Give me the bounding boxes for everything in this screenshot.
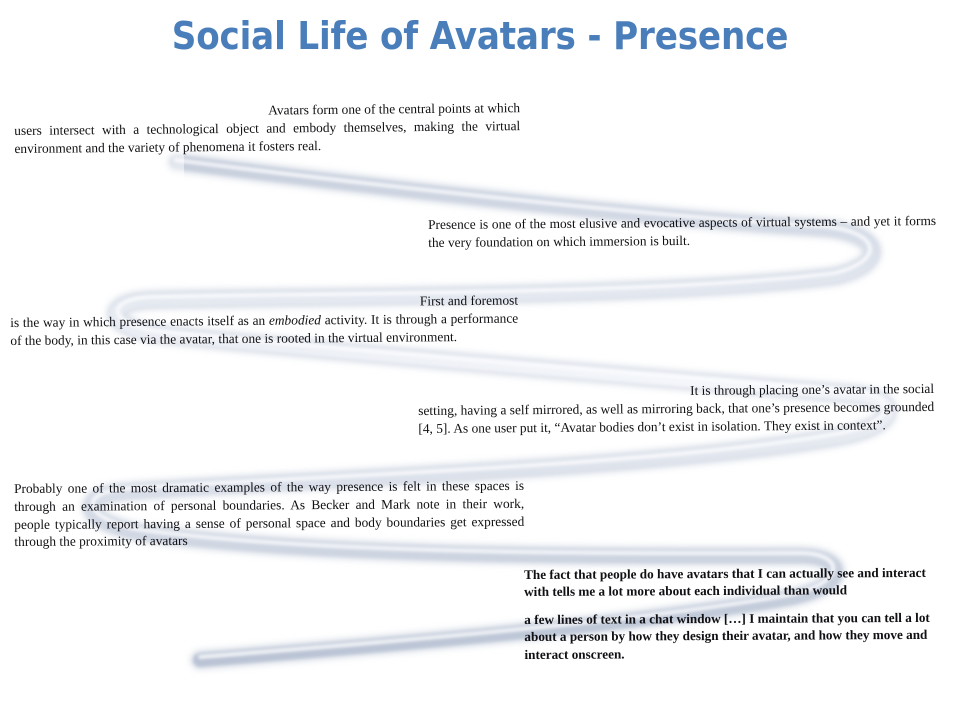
quote-body: Presence is one of the most elusive and …: [428, 213, 936, 250]
quote-block-first-and-foremost: First and foremost is the way in which p…: [10, 292, 518, 350]
slide-canvas: Social Life of Avatars - Presence Avatar…: [0, 0, 960, 720]
quote-body: setting, having a self mirrored, as well…: [418, 399, 934, 436]
quote-block-personal-boundaries: Probably one of the most dramatic exampl…: [14, 477, 524, 551]
quote-emphasis: embodied: [269, 312, 321, 327]
quote-body: users intersect with a technological obj…: [14, 118, 520, 156]
testimonial-paragraph-1: The fact that people do have avatars tha…: [524, 564, 930, 600]
quote-block-placing-avatar-social: It is through placing one’s avatar in th…: [418, 380, 934, 438]
quote-body: Probably one of the most dramatic exampl…: [14, 478, 524, 550]
quote-block-presence-elusive: Presence is one of the most elusive and …: [428, 212, 936, 252]
quote-block-avatars-central-points: Avatars form one of the central points a…: [14, 99, 520, 157]
testimonial-paragraph-2: a few lines of text in a chat window […]…: [524, 609, 930, 663]
slide-title: Social Life of Avatars - Presence: [48, 16, 912, 58]
quote-body-pre: is the way in which presence enacts itse…: [10, 313, 269, 330]
quote-block-user-testimonial: The fact that people do have avatars tha…: [524, 564, 931, 663]
